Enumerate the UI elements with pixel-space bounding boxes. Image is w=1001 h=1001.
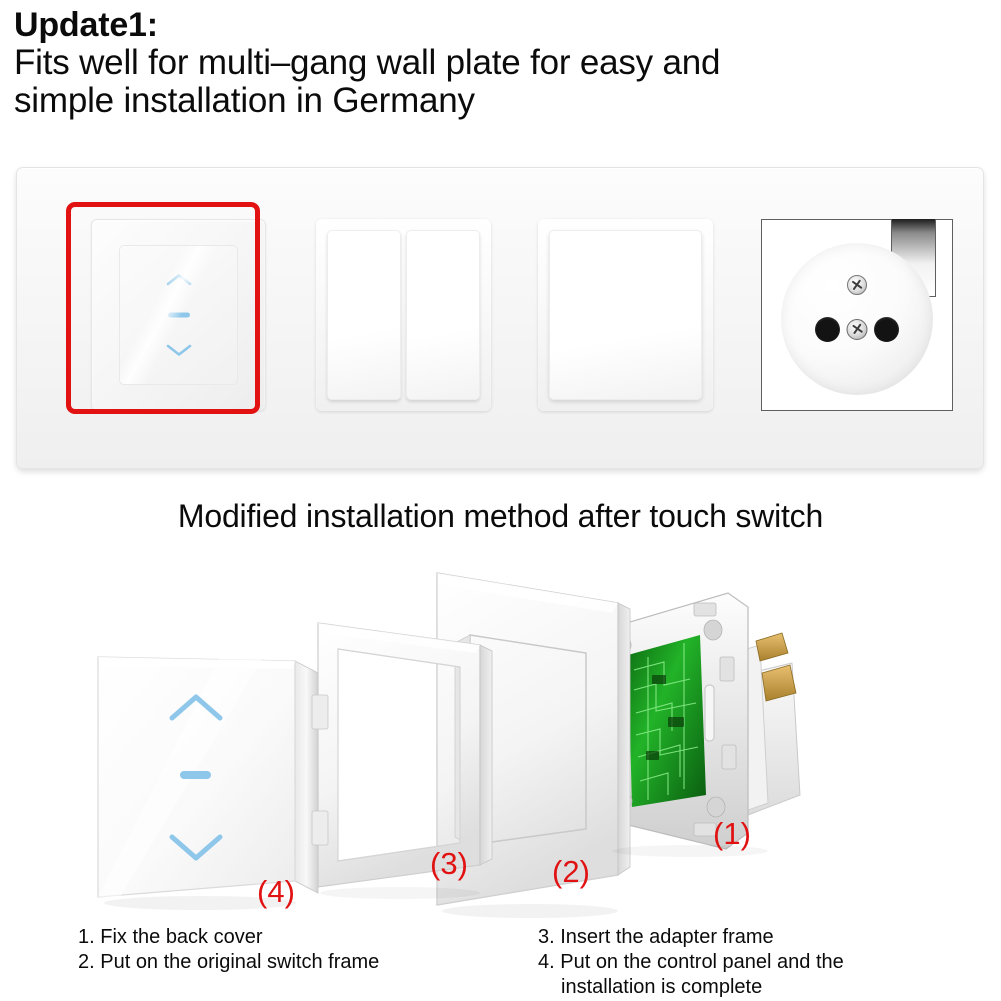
socket-pin-hole-left: [815, 317, 840, 342]
socket-top-screw-icon: [847, 275, 867, 295]
steps-column-left: 1. Fix the back cover 2. Put on the orig…: [78, 925, 379, 975]
step-item: 2. Put on the original switch frame: [78, 950, 379, 975]
callout-label-1: (1): [713, 818, 751, 849]
rocker-frame: [538, 219, 713, 411]
socket-recess: [781, 243, 933, 395]
step-item: 1. Fix the back cover: [78, 925, 379, 950]
step-item-continuation: installation is complete: [538, 975, 844, 1000]
module-french-power-socket[interactable]: [761, 219, 953, 411]
step-item: 4. Put on the control panel and the: [538, 950, 844, 975]
update-title: Update1:: [14, 6, 984, 44]
part-control-panel: [98, 657, 328, 897]
socket-pin-hole-right: [874, 317, 899, 342]
socket-earth-pin: [847, 319, 868, 340]
rocker-frame: [316, 219, 491, 411]
callout-label-3: (3): [430, 848, 468, 879]
header-text-block: Update1: Fits well for multi–gang wall p…: [14, 6, 984, 120]
steps-column-right: 3. Insert the adapter frame 4. Put on th…: [538, 925, 844, 1000]
rocker-paddle-left[interactable]: [327, 230, 401, 400]
panel-minus-icon: [180, 771, 211, 779]
exploded-assembly-diagram: [0, 545, 1001, 925]
subtitle-text: Modified installation method after touch…: [0, 498, 1001, 535]
rocker-paddle[interactable]: [549, 230, 702, 400]
part-back-cover-module: [608, 593, 800, 849]
touch-switch-highlight-box: [66, 202, 260, 414]
callout-label-4: (4): [257, 876, 295, 907]
socket-faceplate: [761, 219, 953, 411]
header-line-3: simple installation in Germany: [14, 82, 984, 120]
installation-steps: 1. Fix the back cover 2. Put on the orig…: [0, 925, 1001, 1001]
step-item: 3. Insert the adapter frame: [538, 925, 844, 950]
header-line-2: Fits well for multi–gang wall plate for …: [14, 44, 984, 82]
rocker-paddle-right[interactable]: [406, 230, 480, 400]
callout-label-2: (2): [552, 856, 590, 887]
module-one-gang-rocker-switch[interactable]: [538, 219, 713, 411]
module-two-gang-rocker-switch[interactable]: [316, 219, 491, 411]
